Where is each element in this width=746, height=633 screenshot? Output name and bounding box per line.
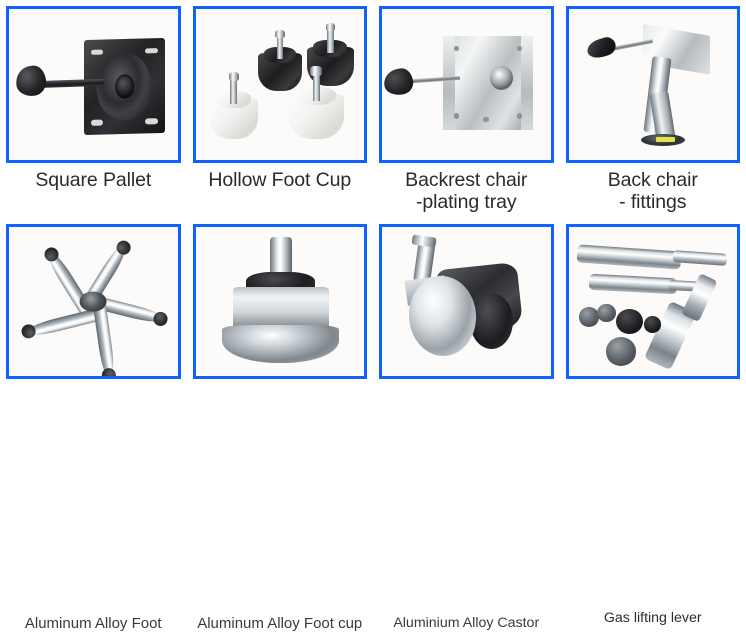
product-cell-gas-lifting-lever[interactable]: Gas lifting lever: [560, 218, 746, 431]
cup-bolt-shape: [310, 66, 322, 75]
star-tip-shape: [152, 310, 169, 327]
tray-body-shape: [449, 36, 527, 130]
product-grid: Square Pallet: [0, 0, 746, 431]
castor-rear-wheel-shape: [470, 293, 514, 350]
cup-stem-shape: [313, 72, 320, 101]
product-photo-frame[interactable]: [193, 6, 368, 163]
star-arm-shape: [23, 308, 97, 339]
cup-stem-shape: [230, 78, 236, 105]
pallet-lever-handle-shape: [14, 64, 48, 98]
product-caption: Aluminum Alloy Foot: [0, 616, 187, 633]
pallet-slot-icon: [145, 48, 157, 54]
backrest-plating-tray-image: [382, 9, 551, 160]
five-star-base-shape: [9, 227, 178, 376]
tray-wing-shape: [521, 36, 533, 130]
product-caption: Aluminium Alloy Castor: [373, 616, 560, 632]
cup-bolt-shape: [326, 23, 336, 31]
pallet-inner-boss-shape: [115, 74, 134, 99]
product-cell-hollow-foot-cup[interactable]: Hollow Foot Cup: [187, 0, 374, 216]
star-tip-shape: [42, 244, 62, 264]
cup-stem-shape: [327, 28, 333, 53]
pallet-slot-icon: [91, 120, 103, 126]
product-cell-aluminium-alloy-castor[interactable]: Aluminium Alloy Castor: [373, 218, 560, 431]
tray-hole-icon: [517, 113, 522, 119]
product-caption: Square Pallet: [0, 170, 187, 192]
gas-rod-shape: [673, 250, 728, 266]
star-hub-shape: [80, 291, 107, 312]
footcup-stem-shape: [270, 237, 292, 276]
product-photo-frame[interactable]: [566, 224, 741, 379]
product-cell-square-pallet[interactable]: Square Pallet: [0, 0, 187, 216]
star-tip-shape: [114, 237, 134, 257]
product-photo-frame[interactable]: [379, 224, 554, 379]
tray-hole-icon: [454, 46, 459, 52]
product-caption: Hollow Foot Cup: [187, 170, 374, 192]
product-row-top: Square Pallet: [0, 0, 746, 216]
product-caption: Aluminum Alloy Foot cup: [187, 616, 374, 633]
product-photo-frame[interactable]: [566, 6, 741, 163]
product-photo-frame[interactable]: [6, 224, 181, 379]
gas-cap-shape: [606, 337, 636, 365]
tray-hole-icon: [483, 117, 488, 123]
product-cell-backrest-plating-tray[interactable]: Backrest chair -plating tray: [373, 0, 560, 216]
product-cell-aluminum-alloy-foot-cup[interactable]: Aluminum Alloy Foot cup: [187, 218, 374, 431]
pallet-boss-shape: [97, 52, 152, 122]
fitting-yellow-label: [656, 137, 675, 142]
gas-lifting-lever-image: [569, 227, 738, 376]
foot-cup-white-shape: [209, 72, 258, 138]
footcup-skirt-shape: [222, 325, 338, 362]
fitting-lever-handle-shape: [585, 35, 618, 61]
product-row-bottom: Aluminum Alloy Foot Aluminum Alloy Foot …: [0, 218, 746, 431]
product-caption: Backrest chair -plating tray: [373, 170, 560, 214]
pallet-slot-icon: [91, 49, 103, 55]
product-caption: Gas lifting lever: [560, 611, 746, 627]
product-cell-aluminum-alloy-foot[interactable]: Aluminum Alloy Foot: [0, 218, 187, 431]
aluminum-alloy-foot-cup-image: [196, 227, 365, 376]
aluminium-alloy-castor-image: [382, 227, 551, 376]
cup-bolt-shape: [229, 72, 239, 81]
tray-lever-handle-shape: [382, 67, 415, 97]
gas-small-knob-shape: [597, 304, 616, 322]
cup-bolt-shape: [275, 30, 284, 38]
gas-cylinder-shape: [576, 244, 681, 269]
product-photo-frame[interactable]: [379, 6, 554, 163]
castor-stem-cap-shape: [412, 234, 437, 248]
star-tip-shape: [20, 322, 37, 339]
back-chair-fittings-image: [569, 9, 738, 160]
pallet-plate-shape: [84, 38, 165, 135]
square-pallet-image: [9, 9, 178, 160]
product-caption: Back chair - fittings: [560, 170, 746, 214]
aluminum-alloy-foot-image: [9, 227, 178, 376]
hollow-foot-cup-image: [196, 9, 365, 160]
product-photo-frame[interactable]: [6, 6, 181, 163]
tray-hole-icon: [454, 113, 459, 119]
tray-hub-shape: [490, 66, 513, 90]
gas-cylinder-shape: [588, 274, 676, 295]
product-photo-frame[interactable]: [193, 224, 368, 379]
product-cell-back-chair-fittings[interactable]: Back chair - fittings: [560, 0, 746, 216]
foot-cup-white-shape: [288, 66, 344, 138]
star-arm-shape: [93, 306, 116, 379]
star-tip-shape: [101, 367, 117, 379]
gas-dark-knob-shape: [644, 316, 661, 332]
gas-dark-knob-shape: [616, 309, 643, 334]
gas-small-knob-shape: [579, 307, 599, 326]
pallet-slot-icon: [145, 119, 157, 125]
cup-stem-shape: [277, 35, 283, 59]
